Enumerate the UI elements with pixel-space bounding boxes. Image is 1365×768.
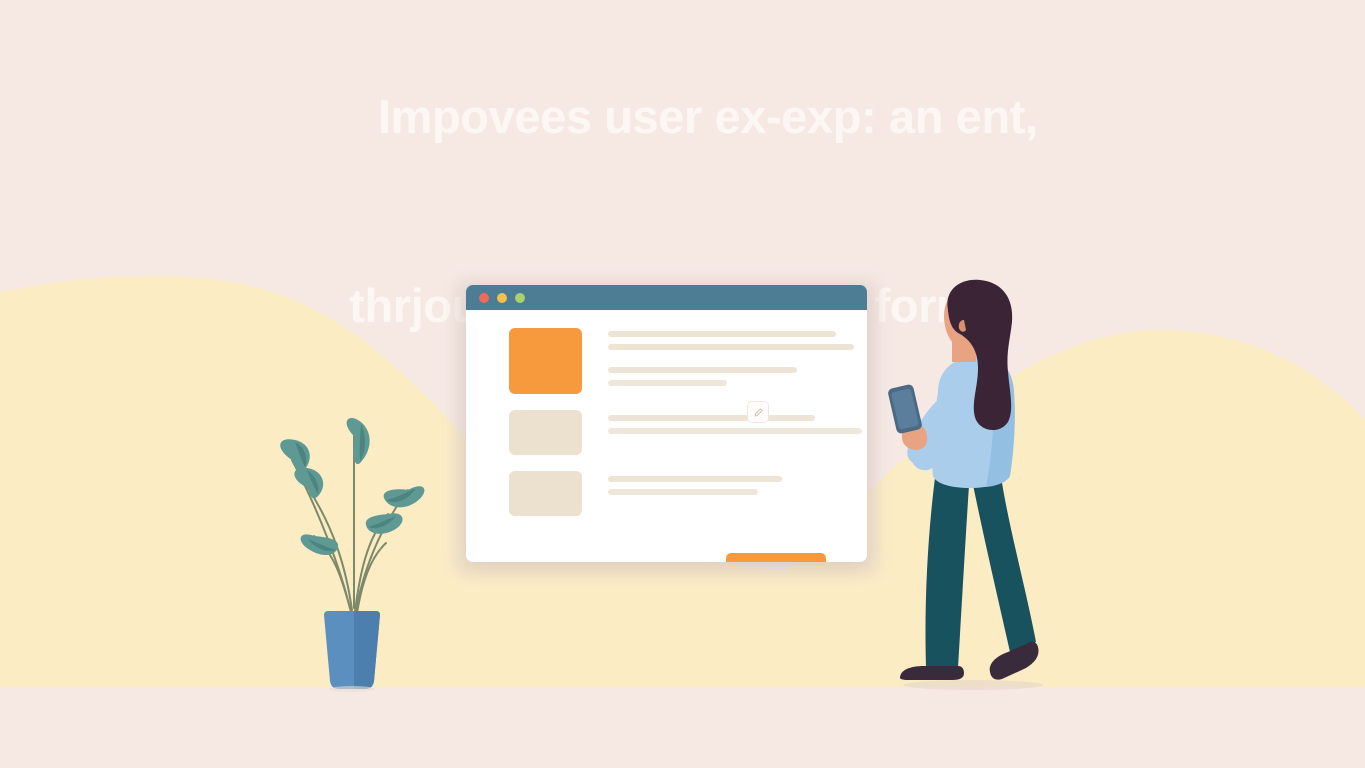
placeholder-line (608, 367, 797, 373)
leg-front (970, 470, 1036, 652)
row-text-lines (608, 410, 867, 441)
illustration-stage: Impovees user ex-exp: an ent, thrjoughe … (0, 0, 1365, 768)
row-thumbnail-muted[interactable] (509, 410, 582, 455)
edit-badge[interactable] (747, 401, 769, 423)
headline-line-1: Impovees user ex-exp: an ent, (378, 90, 1038, 143)
plant-leaves (280, 418, 424, 555)
placeholder-line (608, 476, 782, 482)
content-row[interactable] (466, 471, 867, 516)
window-titlebar (466, 285, 867, 310)
floor-strip (0, 687, 1365, 768)
close-dot[interactable] (479, 293, 489, 303)
row-text-lines (608, 471, 867, 502)
row-thumbnail-muted[interactable] (509, 471, 582, 516)
potted-plant (262, 418, 442, 693)
placeholder-line (608, 344, 854, 350)
placeholder-line (608, 428, 862, 434)
placeholder-line (608, 331, 836, 337)
window-content (466, 310, 867, 562)
person-shadow (903, 680, 1043, 690)
placeholder-line (608, 380, 727, 386)
placeholder-line (608, 489, 758, 495)
pencil-icon (753, 407, 764, 418)
leaf (347, 418, 370, 464)
row-thumbnail-primary[interactable] (509, 328, 582, 394)
content-row[interactable] (466, 410, 867, 455)
content-row[interactable] (466, 328, 867, 394)
plant-pot (324, 611, 380, 692)
minimize-dot[interactable] (497, 293, 507, 303)
submit-button[interactable] (726, 553, 826, 562)
row-text-lines (608, 328, 867, 393)
shoe-back (900, 666, 964, 680)
browser-window[interactable] (453, 278, 880, 576)
person-illustration (878, 280, 1063, 690)
maximize-dot[interactable] (515, 293, 525, 303)
leg-back (925, 470, 970, 668)
placeholder-line (608, 415, 815, 421)
